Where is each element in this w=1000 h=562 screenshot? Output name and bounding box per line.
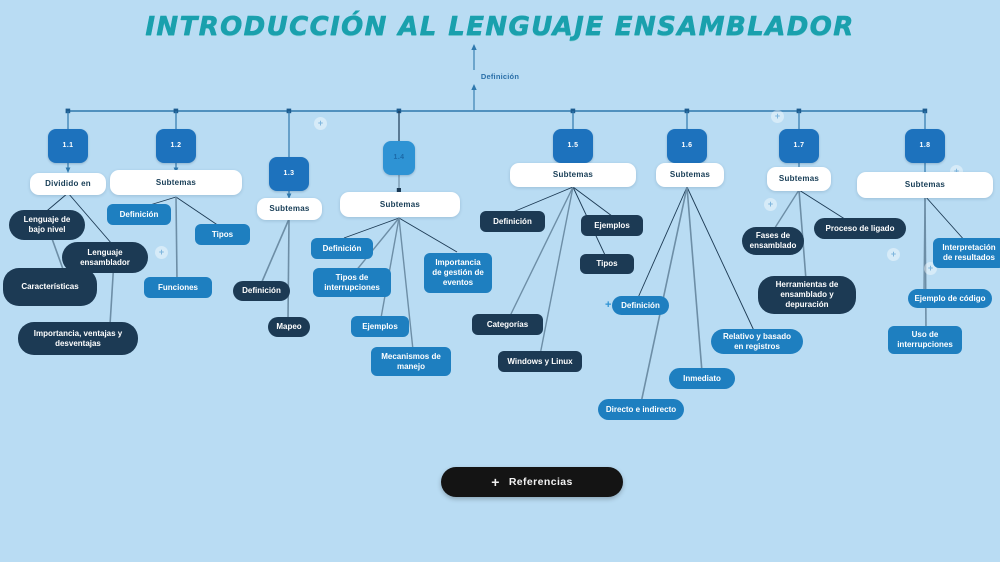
node-1-4-0[interactable]: Definición <box>311 238 373 259</box>
node-1-6-3[interactable]: Directo e indirecto <box>598 399 684 420</box>
node-1-7-0[interactable]: Fases de ensamblado <box>742 227 804 255</box>
node-1-5-0[interactable]: Definición <box>480 211 545 232</box>
branch-header-1-5[interactable]: Subtemas <box>510 163 636 187</box>
node-1-3-0[interactable]: Definición <box>233 281 290 301</box>
node-1-1-0[interactable]: Lenguaje de bajo nivel <box>9 210 85 240</box>
node-1-5-4[interactable]: Windows y Linux <box>498 351 582 372</box>
branch-badge-1-1[interactable]: 1.1 <box>48 129 88 163</box>
root-label: Definición <box>0 72 1000 81</box>
node-1-4-2[interactable]: Importancia de gestión de eventos <box>424 253 492 293</box>
collapse-handle-icon[interactable]: + <box>771 110 784 123</box>
collapse-handle-icon[interactable]: + <box>155 246 168 259</box>
branch-badge-1-3[interactable]: 1.3 <box>269 157 309 191</box>
branch-header-1-8[interactable]: Subtemas <box>857 172 993 198</box>
node-1-5-3[interactable]: Categorías <box>472 314 543 335</box>
node-1-1-3[interactable]: Importancia, ventajas y desventajas <box>18 322 138 355</box>
node-1-7-1[interactable]: Proceso de ligado <box>814 218 906 239</box>
page-title: INTRODUCCIÓN AL LENGUAJE ENSAMBLADOR <box>0 12 1000 42</box>
node-1-2-1[interactable]: Tipos <box>195 224 250 245</box>
node-1-1-2[interactable]: Características <box>3 268 97 306</box>
mindmap-canvas: INTRODUCCIÓN AL LENGUAJE ENSAMBLADOR Def… <box>0 0 1000 562</box>
node-1-4-1[interactable]: Tipos de interrupciones <box>313 268 391 297</box>
collapse-handle-icon[interactable]: + <box>314 117 327 130</box>
node-1-8-0[interactable]: Interpretación de resultados <box>933 238 1000 268</box>
node-1-6-2[interactable]: Inmediato <box>669 368 735 389</box>
plus-icon: + <box>491 475 500 489</box>
node-1-6-0[interactable]: Definición <box>612 296 669 315</box>
references-button[interactable]: + Referencias <box>441 467 623 497</box>
collapse-handle-icon[interactable]: + <box>764 198 777 211</box>
node-1-5-2[interactable]: Tipos <box>580 254 634 274</box>
branch-badge-1-6[interactable]: 1.6 <box>667 129 707 163</box>
node-1-4-4[interactable]: Mecanismos de manejo <box>371 347 451 376</box>
node-1-2-0[interactable]: Definición <box>107 204 171 225</box>
node-1-7-2[interactable]: Herramientas de ensamblado y depuración <box>758 276 856 314</box>
node-1-2-2[interactable]: Funciones <box>144 277 212 298</box>
branch-badge-1-7[interactable]: 1.7 <box>779 129 819 163</box>
branch-header-1-6[interactable]: Subtemas <box>656 163 724 187</box>
node-1-4-3[interactable]: Ejemplos <box>351 316 409 337</box>
branch-header-1-7[interactable]: Subtemas <box>767 167 831 191</box>
collapse-handle-icon[interactable]: + <box>887 248 900 261</box>
branch-badge-1-2[interactable]: 1.2 <box>156 129 196 163</box>
branch-badge-1-5[interactable]: 1.5 <box>553 129 593 163</box>
branch-header-1-1[interactable]: Dividido en <box>30 173 106 195</box>
node-1-3-1[interactable]: Mapeo <box>268 317 310 337</box>
references-label: Referencias <box>509 476 573 488</box>
node-1-5-1[interactable]: Ejemplos <box>581 215 643 236</box>
node-1-6-1[interactable]: Relativo y basado en registros <box>711 329 803 354</box>
add-node-icon[interactable]: + <box>605 300 611 311</box>
branch-badge-1-4[interactable]: 1.4 <box>383 141 415 175</box>
node-1-8-1[interactable]: Ejemplo de código <box>908 289 992 308</box>
node-1-8-2[interactable]: Uso de interrupciones <box>888 326 962 354</box>
branch-header-1-3[interactable]: Subtemas <box>257 198 322 220</box>
branch-header-1-2[interactable]: Subtemas <box>110 170 242 195</box>
branch-header-1-4[interactable]: Subtemas <box>340 192 460 217</box>
branch-badge-1-8[interactable]: 1.8 <box>905 129 945 163</box>
